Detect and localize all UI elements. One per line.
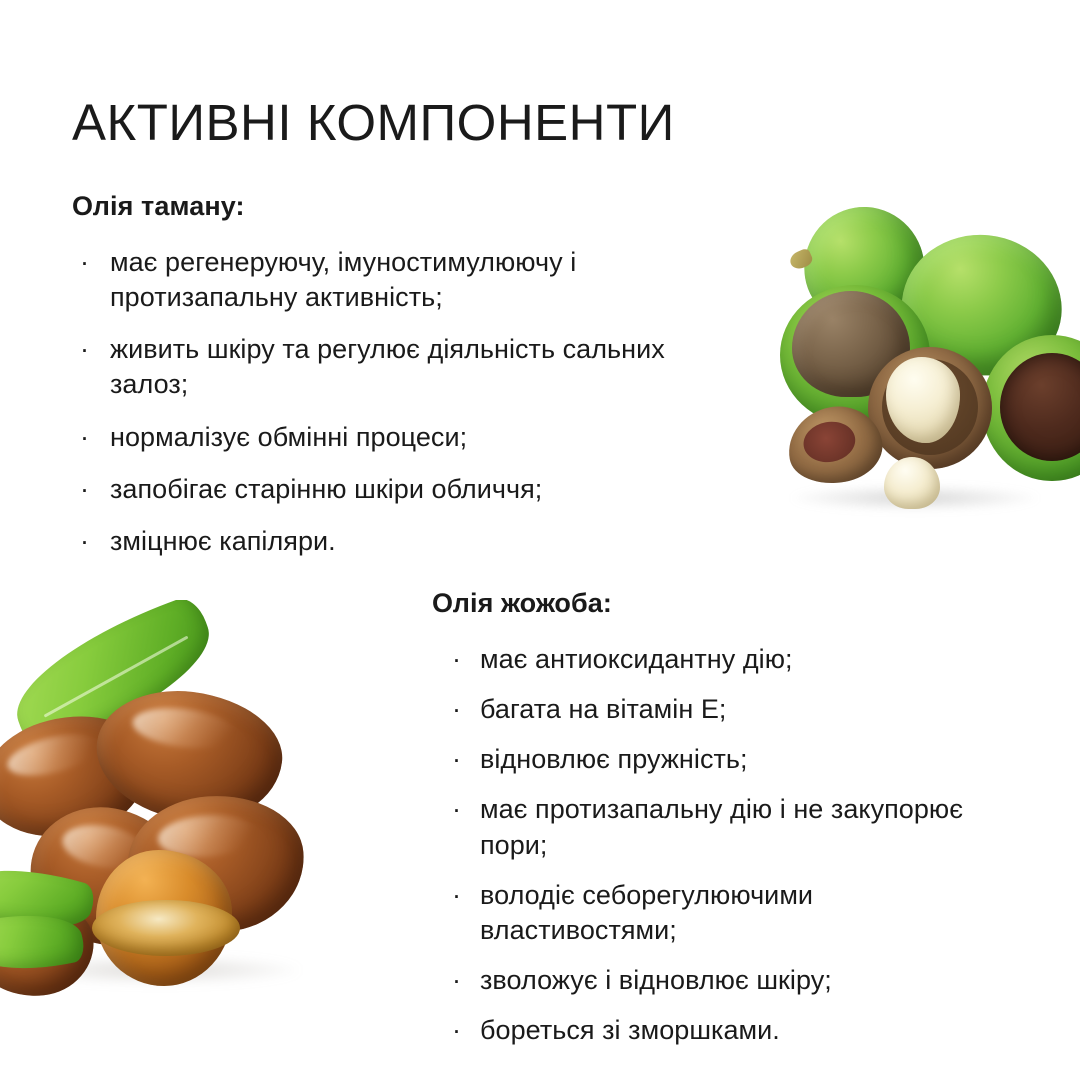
- macadamia-drop-shadow: [790, 485, 1040, 511]
- macadamia-green-husk: [895, 227, 1069, 383]
- list-item-text: бореться зі зморшками.: [480, 1015, 780, 1045]
- list-item-text: багата на вітамін Е;: [480, 694, 726, 724]
- date-fruit: [19, 796, 192, 956]
- macadamia-kernel: [886, 357, 960, 443]
- slide-canvas: АКТИВНІ КОМПОНЕНТИ Олія таману: ·: [0, 0, 1080, 1080]
- macadamia-whole-brown-nut: [792, 291, 910, 397]
- list-item: · має антиоксидантну дію;: [432, 642, 992, 677]
- bullet-list-jojoba: · має антиоксидантну дію; · багата на ві…: [432, 642, 992, 1048]
- list-item: · запобігає старінню шкіри обличчя;: [72, 472, 732, 507]
- date-syrup-pool: [92, 900, 240, 956]
- date-fruit-glossy: [96, 850, 232, 986]
- macadamia-open-husk-cup: [780, 285, 930, 425]
- list-item: · багата на вітамін Е;: [432, 692, 992, 727]
- macadamia-husk-half-with-cavity: [982, 335, 1080, 481]
- list-item: · зволожує і відновлює шкіру;: [432, 963, 992, 998]
- section-heading-jojoba: Олія жожоба:: [432, 587, 992, 619]
- page-title: АКТИВНІ КОМПОНЕНТИ: [72, 96, 675, 150]
- bullet-dot-icon: ·: [452, 1013, 461, 1048]
- bullet-dot-icon: ·: [80, 524, 89, 559]
- bullet-dot-icon: ·: [452, 692, 461, 727]
- list-item-text: має регенеруючу, імуностимулюючу і проти…: [110, 247, 576, 312]
- list-item-text: відновлює пружність;: [480, 744, 748, 774]
- macadamia-shell-fragment: [782, 399, 888, 490]
- list-item-text: нормалізує обмінні процеси;: [110, 422, 467, 452]
- date-fruit: [0, 699, 162, 854]
- list-item: · живить шкіру та регулює діяльність сал…: [72, 332, 732, 402]
- date-fruit: [0, 894, 99, 1000]
- green-leaf-icon: [0, 600, 228, 755]
- dates-photo: [0, 600, 345, 1000]
- bullet-list-tamanu: · має регенеруючу, імуностимулюючу і про…: [72, 245, 732, 559]
- list-item-text: зміцнює капіляри.: [110, 526, 336, 556]
- date-fruit: [123, 790, 308, 938]
- macadamia-green-husk: [796, 198, 933, 333]
- bullet-dot-icon: ·: [452, 792, 461, 827]
- macadamia-kernel-small: [884, 457, 940, 509]
- list-item-text: має антиоксидантну дію;: [480, 644, 793, 674]
- list-item: · має регенеруючу, імуностимулюючу і про…: [72, 245, 732, 315]
- green-leaf-icon: [0, 901, 87, 983]
- bullet-dot-icon: ·: [452, 642, 461, 677]
- list-item-text: має протизапальну дію і не закупорює пор…: [480, 794, 963, 859]
- list-item-text: запобігає старінню шкіри обличчя;: [110, 474, 542, 504]
- list-item: · має протизапальну дію і не закупорює п…: [432, 792, 992, 862]
- list-item: · володіє себорегулюючими властивостями;: [432, 878, 992, 948]
- bullet-dot-icon: ·: [80, 420, 89, 455]
- date-fruit: [89, 681, 289, 831]
- list-item: · нормалізує обмінні процеси;: [72, 420, 732, 455]
- list-item-text: зволожує і відновлює шкіру;: [480, 965, 832, 995]
- list-item-text: живить шкіру та регулює діяльність сальн…: [110, 334, 665, 399]
- bullet-dot-icon: ·: [80, 332, 89, 367]
- dates-drop-shadow: [20, 956, 300, 984]
- bullet-dot-icon: ·: [452, 742, 461, 777]
- bullet-dot-icon: ·: [80, 245, 89, 280]
- list-item: · зміцнює капіляри.: [72, 524, 732, 559]
- macadamia-nuts-photo: [760, 195, 1080, 525]
- section-heading-tamanu: Олія таману:: [72, 190, 732, 222]
- bullet-dot-icon: ·: [452, 963, 461, 998]
- bullet-dot-icon: ·: [80, 472, 89, 507]
- list-item-text: володіє себорегулюючими властивостями;: [480, 880, 813, 945]
- section-tamanu-oil: Олія таману: · має регенеруючу, імуности…: [72, 168, 732, 559]
- bullet-dot-icon: ·: [452, 878, 461, 913]
- macadamia-husk-stem: [787, 247, 814, 271]
- green-leaf-icon: [0, 852, 98, 947]
- list-item: · відновлює пружність;: [432, 742, 992, 777]
- list-item: · бореться зі зморшками.: [432, 1013, 992, 1048]
- macadamia-cracked-shell: [868, 347, 992, 469]
- section-jojoba-oil: Олія жожоба: · має антиоксидантну дію; ·…: [432, 565, 992, 1048]
